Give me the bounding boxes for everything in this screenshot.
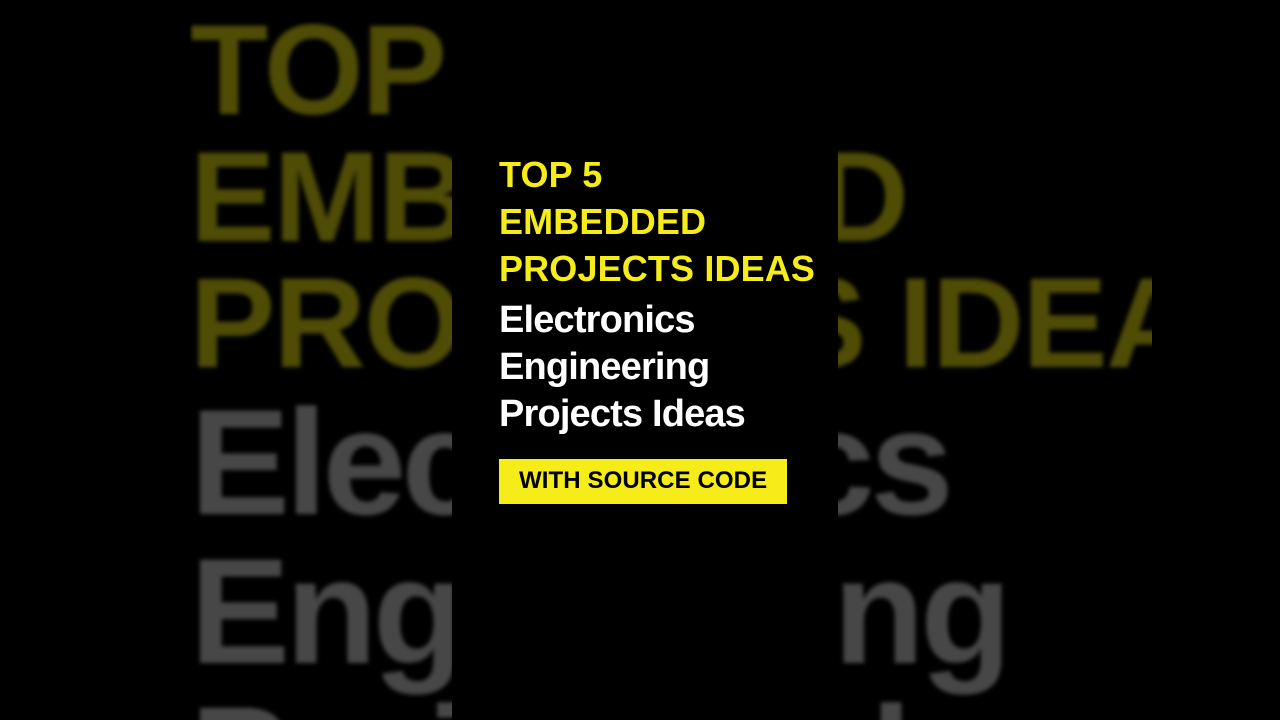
headline-line-2: EMBEDDED	[499, 204, 899, 240]
foreground-text-block: TOP 5 EMBEDDED PROJECTS IDEAS Electronic…	[499, 157, 899, 433]
left-letterbox-mask	[0, 0, 190, 720]
subheadline-line-1: Electronics	[499, 301, 899, 339]
subheadline-line-3: Projects Ideas	[499, 395, 899, 433]
video-thumbnail-canvas: TOP 5 EMBEDDED PROJECTS IDEAS Electronic…	[0, 0, 1280, 720]
subheadline-line-2: Engineering	[499, 348, 899, 386]
with-source-code-badge: WITH SOURCE CODE	[499, 459, 787, 504]
headline-line-1: TOP 5	[499, 157, 899, 193]
headline-line-3: PROJECTS IDEAS	[499, 251, 899, 287]
right-letterbox-mask	[1152, 0, 1280, 720]
